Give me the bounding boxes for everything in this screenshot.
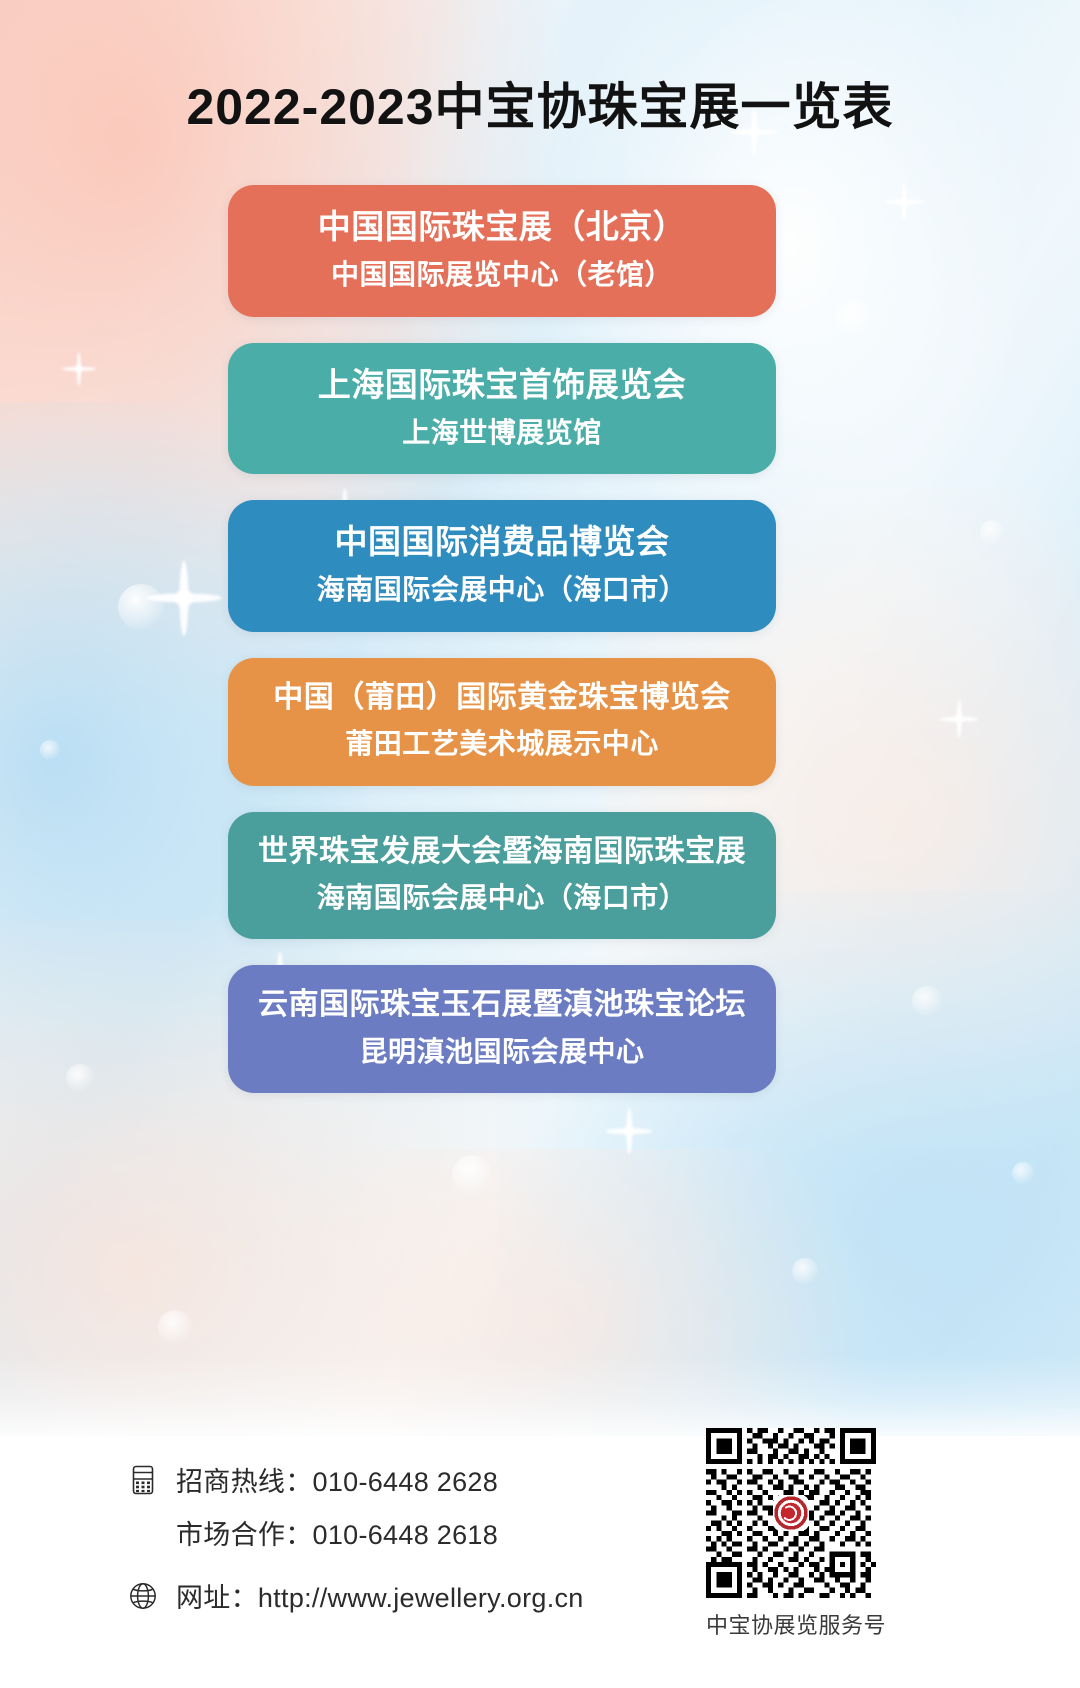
contact-row-hotline: 招商热线：010-6448 2628 xyxy=(128,1460,648,1499)
exhibition-name: 世界珠宝发展大会暨海南国际珠宝展 xyxy=(246,833,758,871)
exhibition-name: 中国国际消费品博览会 xyxy=(246,521,758,563)
footer: 招商热线：010-6448 2628 市场合作：010-6448 2618 网址… xyxy=(0,1436,1080,1688)
exhibition-venue: 昆明滇池国际会展中心 xyxy=(246,1034,758,1070)
qr-caption: 中宝协展览服务号 xyxy=(706,1608,884,1640)
exhibition-venue: 上海世博展览馆 xyxy=(246,415,758,451)
qr-block: 中宝协展览服务号 xyxy=(706,1428,884,1640)
exhibition-card[interactable]: 世界珠宝发展大会暨海南国际珠宝展 海南国际会展中心（海口市） xyxy=(228,812,776,940)
hotline-text: 招商热线：010-6448 2628 xyxy=(176,1460,498,1499)
contact-row-market: 市场合作：010-6448 2618 xyxy=(128,1513,648,1552)
exhibition-card[interactable]: 上海国际珠宝首饰展览会 上海世博展览馆 xyxy=(228,343,776,475)
exhibition-card[interactable]: 中国国际消费品博览会 海南国际会展中心（海口市） xyxy=(228,500,776,632)
exhibition-name: 上海国际珠宝首饰展览会 xyxy=(246,364,758,406)
exhibition-card-list: 中国国际珠宝展（北京） 中国国际展览中心（老馆） 上海国际珠宝首饰展览会 上海世… xyxy=(228,185,776,1093)
exhibition-venue: 中国国际展览中心（老馆） xyxy=(246,257,758,293)
website-text: 网址：http://www.jewellery.org.cn xyxy=(176,1576,584,1615)
exhibition-venue: 海南国际会展中心（海口市） xyxy=(246,572,758,608)
exhibition-name: 中国国际珠宝展（北京） xyxy=(246,206,758,248)
exhibition-name: 中国（莆田）国际黄金珠宝博览会 xyxy=(246,679,758,717)
qr-code-image[interactable] xyxy=(706,1428,876,1598)
exhibition-venue: 海南国际会展中心（海口市） xyxy=(246,880,758,916)
page-title: 2022-2023中宝协珠宝展一览表 xyxy=(0,78,1080,137)
exhibition-card[interactable]: 中国（莆田）国际黄金珠宝博览会 莆田工艺美术城展示中心 xyxy=(228,658,776,786)
exhibition-name: 云南国际珠宝玉石展暨滇池珠宝论坛 xyxy=(246,986,758,1024)
title-container: 2022-2023中宝协珠宝展一览表 xyxy=(0,78,1080,137)
background-bottom-fade xyxy=(0,1356,1080,1436)
contact-block: 招商热线：010-6448 2628 市场合作：010-6448 2618 网址… xyxy=(128,1460,648,1629)
exhibition-venue: 莆田工艺美术城展示中心 xyxy=(246,726,758,762)
poster-root: 2022-2023中宝协珠宝展一览表 中国国际珠宝展（北京） 中国国际展览中心（… xyxy=(0,0,1080,1688)
market-cooperation-text: 市场合作：010-6448 2618 xyxy=(176,1513,498,1552)
contact-row-website[interactable]: 网址：http://www.jewellery.org.cn xyxy=(128,1576,648,1615)
exhibition-card[interactable]: 中国国际珠宝展（北京） 中国国际展览中心（老馆） xyxy=(228,185,776,317)
mobile-phone-icon xyxy=(128,1465,158,1495)
exhibition-card[interactable]: 云南国际珠宝玉石展暨滇池珠宝论坛 昆明滇池国际会展中心 xyxy=(228,965,776,1093)
globe-icon xyxy=(128,1581,158,1611)
